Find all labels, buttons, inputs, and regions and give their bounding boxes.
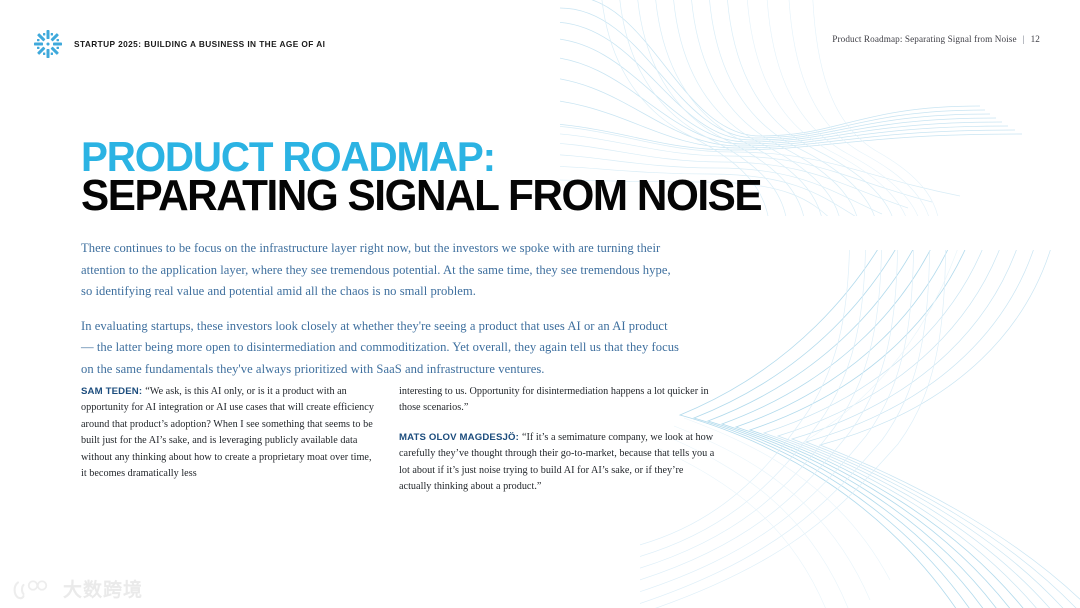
quote-column-right: interesting to us. Opportunity for disin… xyxy=(399,384,716,495)
watermark-text: 大数跨境 xyxy=(63,581,143,600)
intro-paragraph-2: In evaluating startups, these investors … xyxy=(81,316,681,381)
quote-speaker-name: SAM TEDEN: xyxy=(81,386,142,397)
watermark: 大数跨境 xyxy=(10,578,143,602)
header-separator: | xyxy=(1023,34,1025,44)
brand-title: STARTUP 2025: BUILDING A BUSINESS IN THE… xyxy=(74,39,325,49)
quote-text: “We ask, is this AI only, or is it a pro… xyxy=(81,386,374,479)
slide-canvas: STARTUP 2025: BUILDING A BUSINESS IN THE… xyxy=(0,0,1080,608)
header-section-info: Product Roadmap: Separating Signal from … xyxy=(832,34,1040,44)
page-number: 12 xyxy=(1031,34,1040,44)
page-title-line-1: PRODUCT ROADMAP: xyxy=(81,138,761,175)
slide-header: STARTUP 2025: BUILDING A BUSINESS IN THE… xyxy=(0,26,1080,62)
watermark-logo-icon xyxy=(10,578,56,602)
quote-block-sam-teden: SAM TEDEN:“We ask, is this AI only, or i… xyxy=(81,384,377,482)
intro-paragraph-1: There continues to be focus on the infra… xyxy=(81,238,681,303)
page-title-line-2: SEPARATING SIGNAL FROM NOISE xyxy=(81,177,761,214)
quote-block-mats-olov-magdesjo: MATS OLOV MAGDESJÖ:“If it’s a semimature… xyxy=(399,430,716,496)
page-title: PRODUCT ROADMAP: SEPARATING SIGNAL FROM … xyxy=(81,138,790,214)
snowflake-icon xyxy=(32,28,64,60)
quote-continuation-sam-teden: interesting to us. Opportunity for disin… xyxy=(399,384,716,417)
header-section-label: Product Roadmap: Separating Signal from … xyxy=(832,34,1016,44)
quotes-section: SAM TEDEN:“We ask, is this AI only, or i… xyxy=(81,384,716,495)
quote-speaker-name: MATS OLOV MAGDESJÖ: xyxy=(399,432,519,443)
brand-block: STARTUP 2025: BUILDING A BUSINESS IN THE… xyxy=(32,26,325,62)
quote-column-left: SAM TEDEN:“We ask, is this AI only, or i… xyxy=(81,384,377,495)
intro-section: There continues to be focus on the infra… xyxy=(81,238,681,380)
